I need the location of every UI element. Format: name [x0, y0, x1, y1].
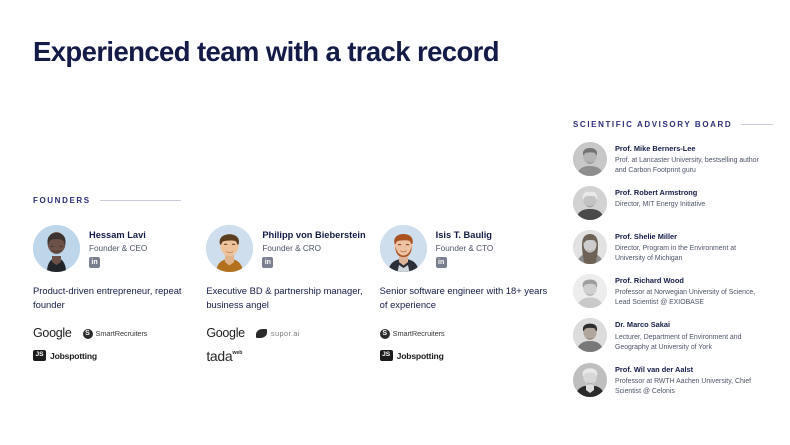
founder-name: Philipp von Bieberstein: [262, 230, 365, 242]
linkedin-icon[interactable]: in: [436, 257, 447, 268]
founders-row: Hessam Lavi Founder & CEO in Product-dri…: [33, 225, 553, 363]
founder-logo-row: tada web: [206, 348, 379, 363]
supor-ai-mark-icon: [256, 329, 267, 338]
founders-section-label: FOUNDERS: [33, 196, 91, 205]
jobspotting-badge-icon: JS: [33, 350, 46, 361]
linkedin-icon[interactable]: in: [262, 257, 273, 268]
section-divider-rule: [100, 200, 181, 201]
founder-logo-row: Google S SmartRecruiters: [33, 326, 206, 341]
smartrecruiters-logo: S SmartRecruiters: [83, 329, 148, 339]
advisor-list: Prof. Mike Berners-Lee Prof. at Lancaste…: [573, 142, 773, 397]
google-logo-text: Google: [33, 326, 72, 340]
advisor-description: Director, Program in the Environment at …: [615, 244, 767, 264]
founder-header: Philipp von Bieberstein Founder & CRO in: [206, 225, 379, 272]
tada-web-logo-text: tada: [206, 349, 232, 363]
advisor-meta: Prof. Mike Berners-Lee Prof. at Lancaste…: [615, 142, 767, 176]
advisor-name: Prof. Robert Armstrong: [615, 188, 705, 198]
founder-description: Senior software engineer with 18+ years …: [380, 284, 548, 312]
advisory-board-section: SCIENTIFIC ADVISORY BOARD Prof. Mike Ber…: [573, 120, 773, 397]
founder-meta: Isis T. Baulig Founder & CTO in: [436, 225, 494, 268]
founders-section: FOUNDERS: [33, 196, 553, 363]
smartrecruiters-logo: S SmartRecruiters: [380, 329, 445, 339]
advisor-meta: Prof. Shelie Miller Director, Program in…: [615, 230, 767, 264]
advisor-name: Prof. Wil van der Aalst: [615, 365, 767, 375]
advisor-name: Prof. Mike Berners-Lee: [615, 144, 767, 154]
list-item: Dr. Marco Sakai Lecturer, Department of …: [573, 318, 773, 352]
founder-name: Isis T. Baulig: [436, 230, 494, 242]
founder-meta: Hessam Lavi Founder & CEO in: [89, 225, 147, 268]
advisor-meta: Prof. Richard Wood Professor at Norwegia…: [615, 274, 767, 308]
jobspotting-badge-icon: JS: [380, 350, 393, 361]
supor-ai-logo: supor.ai: [256, 329, 300, 338]
founder-card: Hessam Lavi Founder & CEO in Product-dri…: [33, 225, 206, 363]
advisor-name: Dr. Marco Sakai: [615, 320, 767, 330]
list-item: Prof. Mike Berners-Lee Prof. at Lancaste…: [573, 142, 773, 176]
founders-section-header: FOUNDERS: [33, 196, 181, 205]
founder-header: Hessam Lavi Founder & CEO in: [33, 225, 206, 272]
founder-logo-row: S SmartRecruiters: [380, 326, 553, 341]
founder-logo-row: JS Jobspotting: [380, 348, 553, 363]
google-logo: Google: [206, 326, 245, 341]
avatar: [573, 363, 607, 397]
founder-meta: Philipp von Bieberstein Founder & CRO in: [262, 225, 365, 268]
founder-description: Executive BD & partnership manager, busi…: [206, 284, 374, 312]
founder-role: Founder & CEO: [89, 244, 147, 254]
advisor-description: Professor at Norwegian University of Sci…: [615, 288, 767, 308]
smartrecruiters-badge-icon: S: [380, 329, 390, 339]
smartrecruiters-badge-icon: S: [83, 329, 93, 339]
founder-role: Founder & CRO: [262, 244, 365, 254]
founder-card: Isis T. Baulig Founder & CTO in Senior s…: [380, 225, 553, 363]
advisor-meta: Prof. Robert Armstrong Director, MIT Ene…: [615, 186, 705, 210]
advisor-description: Prof. at Lancaster University, bestselli…: [615, 156, 767, 176]
founder-card: Philipp von Bieberstein Founder & CRO in…: [206, 225, 379, 363]
avatar: [573, 186, 607, 220]
list-item: Prof. Richard Wood Professor at Norwegia…: [573, 274, 773, 308]
avatar: [206, 225, 253, 272]
linkedin-icon[interactable]: in: [89, 257, 100, 268]
list-item: Prof. Shelie Miller Director, Program in…: [573, 230, 773, 264]
slide-root: Experienced team with a track record FOU…: [0, 0, 790, 445]
founder-role: Founder & CTO: [436, 244, 494, 254]
jobspotting-logo-text: Jobspotting: [50, 351, 97, 361]
list-item: Prof. Wil van der Aalst Professor at RWT…: [573, 363, 773, 397]
list-item: Prof. Robert Armstrong Director, MIT Ene…: [573, 186, 773, 220]
jobspotting-logo-text: Jobspotting: [397, 351, 444, 361]
jobspotting-logo: JS Jobspotting: [33, 350, 97, 361]
smartrecruiters-logo-text: SmartRecruiters: [96, 329, 148, 338]
advisory-section-header: SCIENTIFIC ADVISORY BOARD: [573, 120, 773, 129]
advisor-name: Prof. Richard Wood: [615, 276, 767, 286]
page-title: Experienced team with a track record: [33, 36, 499, 68]
founder-logo-row: Google supor.ai: [206, 326, 379, 341]
avatar: [573, 274, 607, 308]
jobspotting-logo: JS Jobspotting: [380, 350, 444, 361]
advisor-description: Director, MIT Energy Initiative: [615, 200, 705, 210]
founder-description: Product-driven entrepreneur, repeat foun…: [33, 284, 201, 312]
tada-web-logo-sup: web: [232, 350, 242, 356]
avatar: [573, 142, 607, 176]
founder-logo-row: JS Jobspotting: [33, 348, 206, 363]
advisor-description: Lecturer, Department of Environment and …: [615, 333, 767, 353]
tada-web-logo: tada web: [206, 349, 242, 363]
avatar: [573, 318, 607, 352]
advisor-meta: Dr. Marco Sakai Lecturer, Department of …: [615, 318, 767, 352]
avatar: [380, 225, 427, 272]
advisor-name: Prof. Shelie Miller: [615, 232, 767, 242]
section-divider-rule: [741, 124, 773, 125]
advisory-section-label: SCIENTIFIC ADVISORY BOARD: [573, 120, 732, 129]
founder-header: Isis T. Baulig Founder & CTO in: [380, 225, 553, 272]
advisor-meta: Prof. Wil van der Aalst Professor at RWT…: [615, 363, 767, 397]
google-logo: Google: [33, 326, 72, 341]
smartrecruiters-logo-text: SmartRecruiters: [393, 329, 445, 338]
avatar: [573, 230, 607, 264]
avatar: [33, 225, 80, 272]
founder-name: Hessam Lavi: [89, 230, 147, 242]
google-logo-text: Google: [206, 326, 245, 340]
advisor-description: Professor at RWTH Aachen University, Chi…: [615, 377, 767, 397]
supor-ai-logo-text: supor.ai: [271, 329, 300, 338]
